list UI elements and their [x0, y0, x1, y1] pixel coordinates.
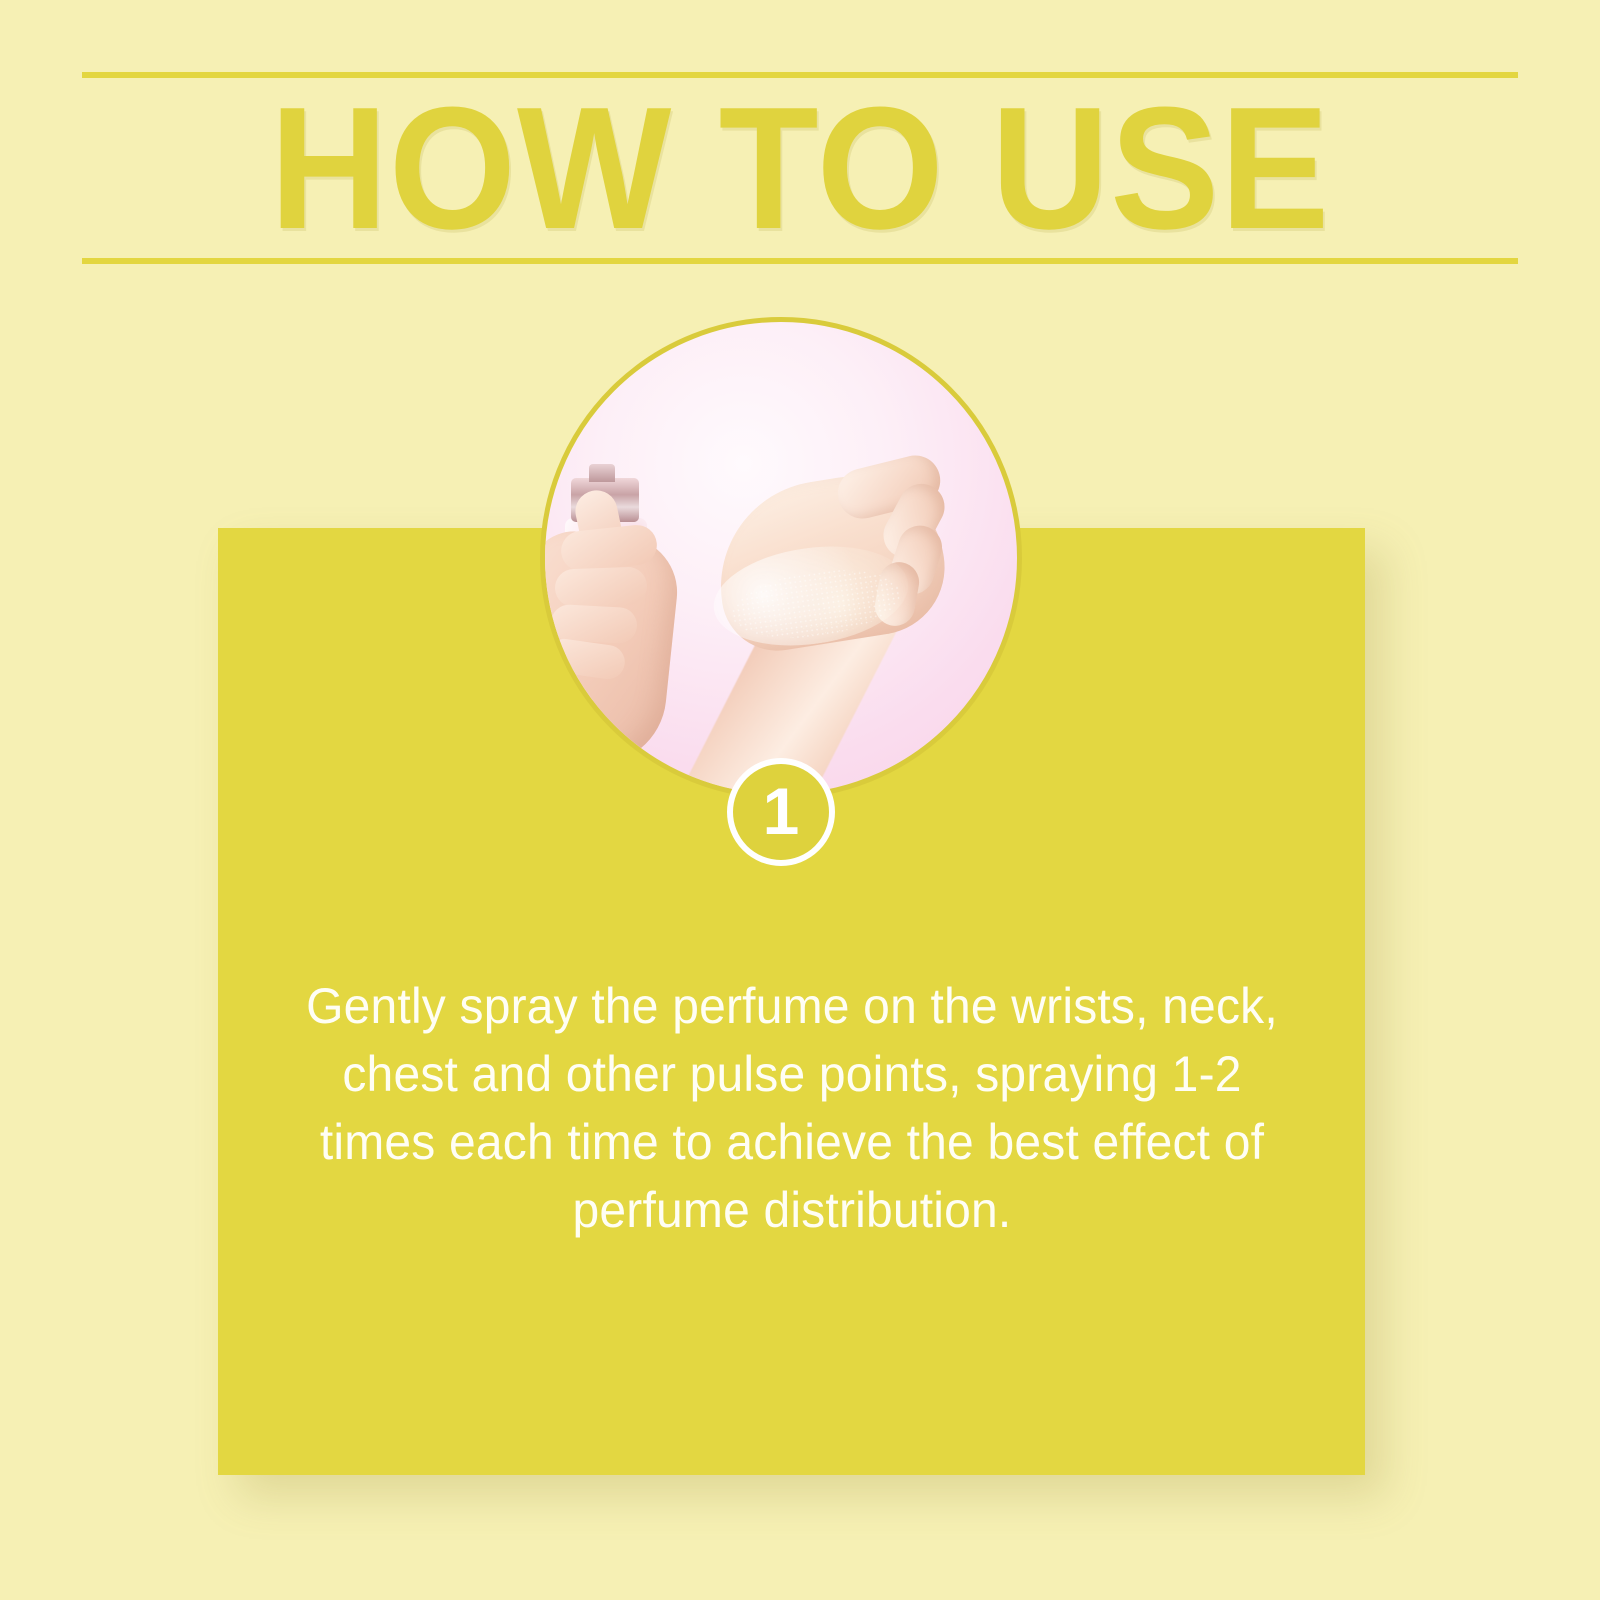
- how-to-use-poster: HOW TO USE 1 Gently spray the p: [0, 0, 1600, 1600]
- step-number-badge: 1: [727, 758, 835, 866]
- step-description: Gently spray the perfume on the wrists, …: [289, 972, 1295, 1244]
- header-band: HOW TO USE: [82, 72, 1518, 264]
- step-photo-circle: [540, 317, 1022, 799]
- page-title: HOW TO USE: [125, 72, 1475, 264]
- header-rule-bottom: [82, 258, 1518, 264]
- perfume-spray-photo: [545, 322, 1017, 794]
- perfume-bottle-nozzle: [589, 464, 615, 482]
- step-number-label: 1: [763, 778, 800, 844]
- finger-shape: [554, 566, 647, 607]
